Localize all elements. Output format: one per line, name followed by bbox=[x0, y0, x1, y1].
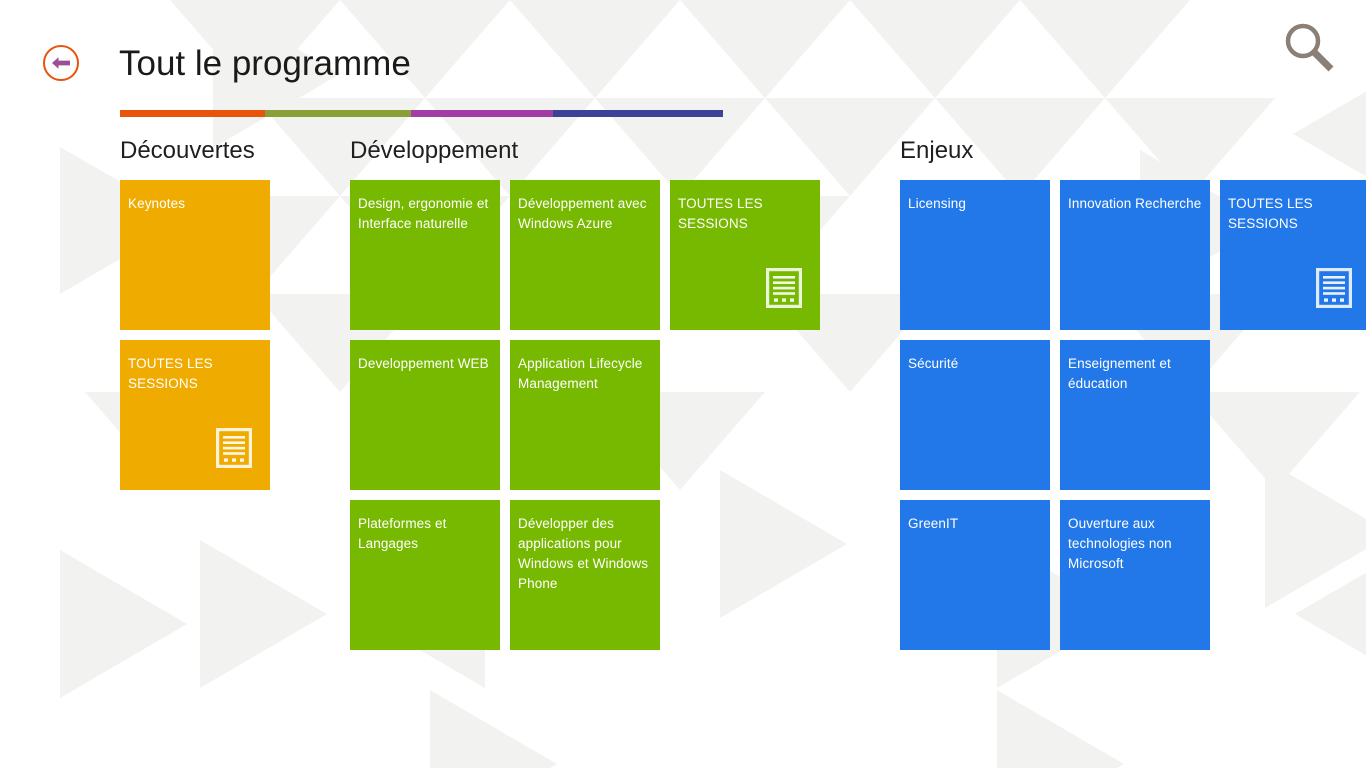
tile[interactable]: TOUTES LES SESSIONS bbox=[120, 340, 270, 490]
tile[interactable]: Design, ergonomie et Interface naturelle bbox=[350, 180, 500, 330]
tile[interactable]: GreenIT bbox=[900, 500, 1050, 650]
tile[interactable]: Développement avec Windows Azure bbox=[510, 180, 660, 330]
accent-segment-3 bbox=[553, 110, 723, 117]
tile[interactable]: Ouverture aux technologies non Microsoft bbox=[1060, 500, 1210, 650]
accent-segment-1 bbox=[265, 110, 411, 117]
document-list-icon bbox=[766, 268, 802, 308]
tile[interactable]: Enseignement et éducation bbox=[1060, 340, 1210, 490]
group-title-decouvertes: Découvertes bbox=[120, 130, 270, 180]
group-developpement: DéveloppementDesign, ergonomie et Interf… bbox=[350, 130, 820, 650]
tile-label: TOUTES LES SESSIONS bbox=[1228, 194, 1364, 234]
tile[interactable]: Innovation Recherche bbox=[1060, 180, 1210, 330]
back-button[interactable] bbox=[43, 45, 79, 81]
tile-label: Plateformes et Langages bbox=[358, 514, 494, 554]
search-button[interactable] bbox=[1274, 12, 1346, 84]
program-page: Tout le programme DécouvertesKeynotesTOU… bbox=[0, 0, 1366, 768]
tile-label: TOUTES LES SESSIONS bbox=[678, 194, 814, 234]
tile[interactable]: Keynotes bbox=[120, 180, 270, 330]
tile[interactable]: Plateformes et Langages bbox=[350, 500, 500, 650]
tile-label: Keynotes bbox=[128, 194, 264, 214]
program-groups: DécouvertesKeynotesTOUTES LES SESSIONSDé… bbox=[0, 130, 1366, 768]
tile[interactable]: TOUTES LES SESSIONS bbox=[670, 180, 820, 330]
group-enjeux: EnjeuxLicensingInnovation RechercheTOUTE… bbox=[900, 130, 1366, 650]
document-list-icon bbox=[216, 428, 252, 468]
arrow-left-icon bbox=[51, 56, 71, 70]
tile[interactable]: Developpement WEB bbox=[350, 340, 500, 490]
tile-label: Developpement WEB bbox=[358, 354, 494, 374]
tile-label: Développer des applications pour Windows… bbox=[518, 514, 654, 594]
accent-segment-2 bbox=[411, 110, 553, 117]
tile[interactable]: Sécurité bbox=[900, 340, 1050, 490]
group-title-developpement: Développement bbox=[350, 130, 820, 180]
document-list-icon bbox=[1316, 268, 1352, 308]
tile-label: Innovation Recherche bbox=[1068, 194, 1204, 214]
tile[interactable]: Développer des applications pour Windows… bbox=[510, 500, 660, 650]
tile[interactable]: Application Lifecycle Management bbox=[510, 340, 660, 490]
tile-grid-developpement: Design, ergonomie et Interface naturelle… bbox=[350, 180, 820, 650]
group-title-enjeux: Enjeux bbox=[900, 130, 1366, 180]
group-decouvertes: DécouvertesKeynotesTOUTES LES SESSIONS bbox=[120, 130, 270, 650]
tile-label: Sécurité bbox=[908, 354, 1044, 374]
page-title: Tout le programme bbox=[119, 41, 411, 87]
tile-label: Enseignement et éducation bbox=[1068, 354, 1204, 394]
tile-label: Développement avec Windows Azure bbox=[518, 194, 654, 234]
tile-label: GreenIT bbox=[908, 514, 1044, 534]
search-icon bbox=[1281, 19, 1339, 77]
tile-label: Ouverture aux technologies non Microsoft bbox=[1068, 514, 1204, 574]
accent-rule bbox=[120, 110, 723, 117]
tile[interactable]: TOUTES LES SESSIONS bbox=[1220, 180, 1366, 330]
tile-label: Application Lifecycle Management bbox=[518, 354, 654, 394]
tile[interactable]: Licensing bbox=[900, 180, 1050, 330]
tile-label: Licensing bbox=[908, 194, 1044, 214]
accent-segment-0 bbox=[120, 110, 265, 117]
tile-label: TOUTES LES SESSIONS bbox=[128, 354, 264, 394]
tile-grid-decouvertes: KeynotesTOUTES LES SESSIONS bbox=[120, 180, 270, 650]
tile-label: Design, ergonomie et Interface naturelle bbox=[358, 194, 494, 234]
tile-grid-enjeux: LicensingInnovation RechercheTOUTES LES … bbox=[900, 180, 1366, 650]
